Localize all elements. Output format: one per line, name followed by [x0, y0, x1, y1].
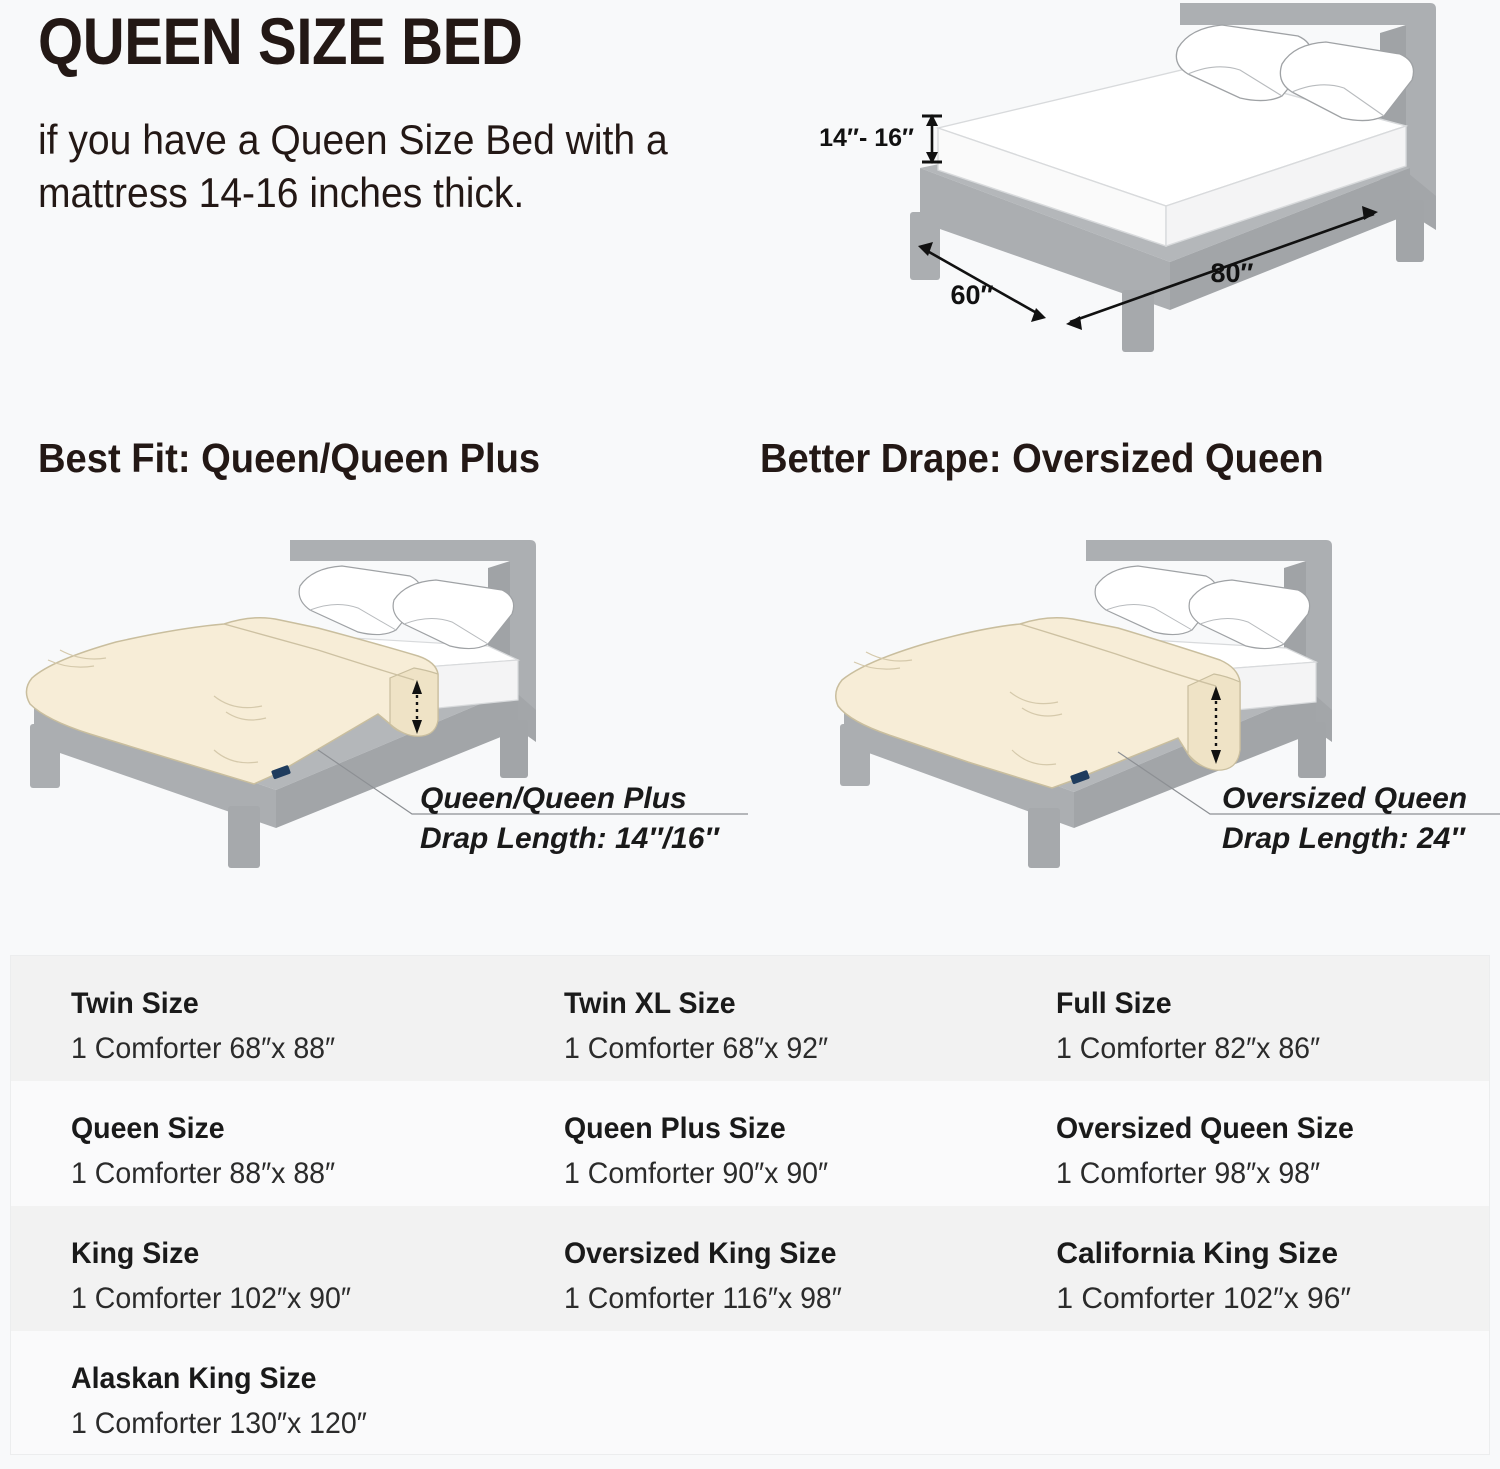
table-cell-empty	[504, 1331, 997, 1455]
size-name: Alaskan King Size	[71, 1361, 482, 1396]
comforter-size-table: Twin Size1 Comforter 68″x 88″Twin XL Siz…	[10, 955, 1490, 1455]
size-name: Twin Size	[71, 986, 482, 1021]
size-measurement: 1 Comforter 130″x 120″	[71, 1406, 482, 1441]
size-measurement: 1 Comforter 116″x 98″	[564, 1281, 975, 1316]
size-name: Full Size	[1056, 986, 1467, 1021]
infographic-page: QUEEN SIZE BED if you have a Queen Size …	[0, 0, 1500, 1469]
table-cell: Alaskan King Size1 Comforter 130″x 120″	[11, 1331, 504, 1455]
page-title: QUEEN SIZE BED	[38, 8, 522, 74]
table-cell: King Size1 Comforter 102″x 90″	[11, 1206, 504, 1331]
size-name: Queen Plus Size	[564, 1111, 975, 1146]
section-heading-best-fit: Best Fit: Queen/Queen Plus	[38, 435, 540, 482]
size-measurement: 1 Comforter 102″x 90″	[71, 1281, 482, 1316]
table-cell: Twin Size1 Comforter 68″x 88″	[11, 956, 504, 1081]
table-cell: Full Size1 Comforter 82″x 86″	[996, 956, 1489, 1081]
hero-width-label: 60″	[951, 280, 994, 310]
size-measurement: 1 Comforter 90″x 90″	[564, 1156, 975, 1191]
table-cell: Twin XL Size1 Comforter 68″x 92″	[504, 956, 997, 1081]
table-row: Twin Size1 Comforter 68″x 88″Twin XL Siz…	[11, 956, 1489, 1081]
size-measurement: 1 Comforter 88″x 88″	[71, 1156, 482, 1191]
size-name: California King Size	[1056, 1236, 1489, 1271]
size-name: Queen Size	[71, 1111, 482, 1146]
table-cell: Oversized King Size1 Comforter 116″x 98″	[504, 1206, 997, 1331]
table-row: Queen Size1 Comforter 88″x 88″Queen Plus…	[11, 1081, 1489, 1206]
table-cell: Queen Plus Size1 Comforter 90″x 90″	[504, 1081, 997, 1206]
table-cell: Queen Size1 Comforter 88″x 88″	[11, 1081, 504, 1206]
table-row: Alaskan King Size1 Comforter 130″x 120″	[11, 1331, 1489, 1455]
size-measurement: 1 Comforter 68″x 88″	[71, 1031, 482, 1066]
section-heading-better-drape: Better Drape: Oversized Queen	[760, 435, 1324, 482]
callout-queen-line2: Drap Length: 14″/16″	[420, 819, 719, 859]
table-row: King Size1 Comforter 102″x 90″Oversized …	[11, 1206, 1489, 1331]
table-cell: Oversized Queen Size1 Comforter 98″x 98″	[996, 1081, 1489, 1206]
size-name: King Size	[71, 1236, 482, 1271]
size-measurement: 1 Comforter 102″x 96″	[1056, 1281, 1489, 1316]
callout-queen-line1: Queen/Queen Plus	[420, 779, 719, 819]
table-cell-empty	[996, 1331, 1489, 1455]
hero-length-label: 80″	[1211, 258, 1254, 288]
callout-queen: Queen/Queen Plus Drap Length: 14″/16″	[420, 779, 719, 858]
size-name: Oversized Queen Size	[1056, 1111, 1467, 1146]
size-measurement: 1 Comforter 68″x 92″	[564, 1031, 975, 1066]
table-cell: California King Size1 Comforter 102″x 96…	[996, 1206, 1489, 1331]
hero-height-label: 14″- 16″	[819, 124, 914, 152]
page-subtitle: if you have a Queen Size Bed with a matt…	[38, 114, 680, 219]
callout-oversized-line1: Oversized Queen	[1222, 779, 1467, 819]
callout-oversized-queen: Oversized Queen Drap Length: 24″	[1222, 779, 1467, 858]
size-measurement: 1 Comforter 82″x 86″	[1056, 1031, 1467, 1066]
callout-oversized-line2: Drap Length: 24″	[1222, 819, 1467, 859]
hero-bed-illustration: 14″- 16″ 60″ 80″	[770, 0, 1490, 360]
size-name: Oversized King Size	[564, 1236, 975, 1271]
size-measurement: 1 Comforter 98″x 98″	[1056, 1156, 1467, 1191]
size-name: Twin XL Size	[564, 986, 975, 1021]
